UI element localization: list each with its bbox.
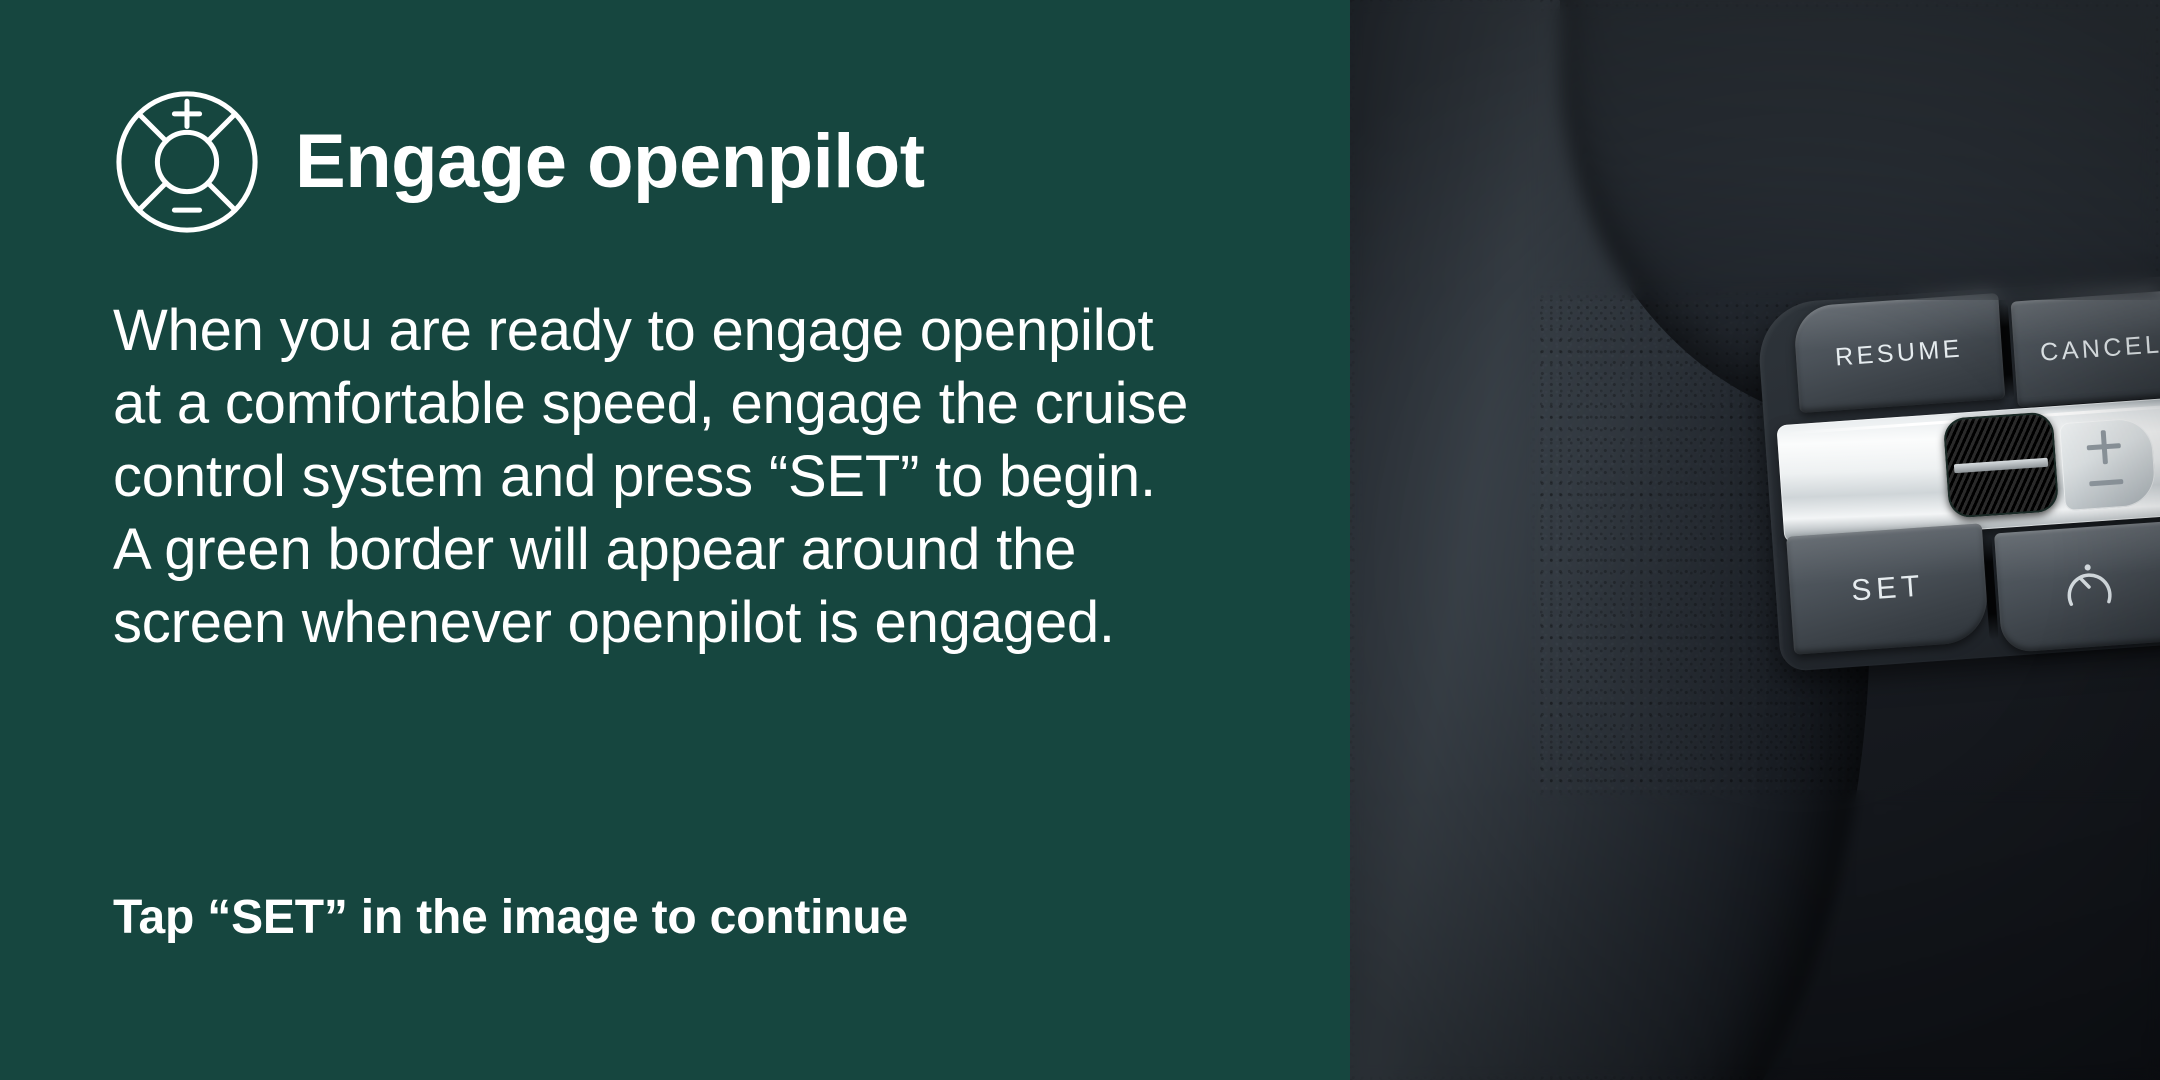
set-button[interactable]: SET bbox=[1786, 523, 1990, 654]
plus-icon bbox=[2087, 443, 2121, 450]
minus-icon bbox=[2089, 479, 2123, 486]
instruction-line: screen whenever openpilot is engaged. bbox=[113, 586, 1263, 659]
panel-header: Engage openpilot bbox=[113, 88, 925, 236]
onboarding-screen: Engage openpilot When you are ready to e… bbox=[0, 0, 2160, 1080]
plus-minus-rocker[interactable] bbox=[2059, 417, 2157, 511]
continue-prompt: Tap “SET” in the image to continue bbox=[113, 890, 908, 945]
instruction-panel: Engage openpilot When you are ready to e… bbox=[0, 0, 1350, 1080]
instruction-line: at a comfortable speed, engage the cruis… bbox=[113, 367, 1263, 440]
speed-limiter-icon bbox=[2058, 556, 2120, 618]
speed-limiter-button[interactable] bbox=[1994, 521, 2160, 653]
page-title: Engage openpilot bbox=[295, 124, 925, 200]
instruction-line: control system and press “SET” to begin. bbox=[113, 440, 1263, 513]
instruction-line: When you are ready to engage openpilot bbox=[113, 294, 1263, 367]
set-button-label: SET bbox=[1850, 569, 1926, 608]
cancel-button[interactable]: CANCEL bbox=[2011, 289, 2160, 408]
resume-button-label: RESUME bbox=[1834, 334, 1964, 372]
instruction-line: A green border will appear around the bbox=[113, 513, 1263, 586]
steering-wheel-photo[interactable]: RESUME CANCEL SET bbox=[1350, 0, 2160, 1080]
thumbwheel-control[interactable] bbox=[1943, 411, 2060, 518]
resume-button[interactable]: RESUME bbox=[1793, 293, 2006, 413]
cancel-button-label: CANCEL bbox=[2039, 330, 2160, 367]
instruction-body: When you are ready to engage openpilot a… bbox=[113, 294, 1263, 659]
cruise-control-icon bbox=[113, 88, 261, 236]
